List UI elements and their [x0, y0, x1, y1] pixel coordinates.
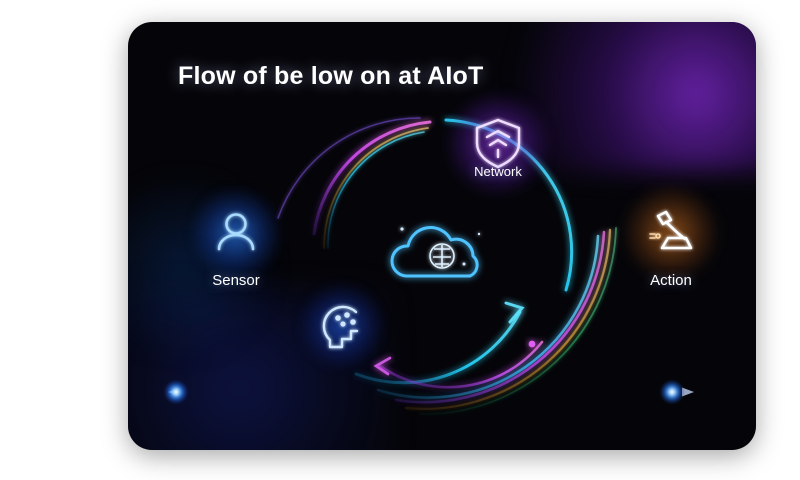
- timeline-end-dot: [659, 379, 685, 405]
- node-sensor[interactable]: Sensor: [176, 200, 296, 289]
- node-action[interactable]: Action: [611, 200, 731, 289]
- progress-timeline[interactable]: [128, 360, 756, 450]
- person-icon: [203, 200, 269, 266]
- diagram-card: Flow of be low on at AIoT: [128, 22, 756, 450]
- action-label: Action: [611, 272, 731, 289]
- node-edge-device[interactable]: [292, 294, 392, 366]
- screenshot-root: Flow of be low on at AIoT: [0, 0, 800, 480]
- node-cloud-ai[interactable]: [360, 212, 524, 300]
- timeline-start-dot: [163, 379, 189, 405]
- cloud-ai-icon: [376, 212, 508, 294]
- robot-arm-icon: [638, 200, 704, 266]
- network-label: Network: [438, 164, 558, 179]
- node-network[interactable]: Network: [438, 110, 558, 179]
- sensor-label: Sensor: [176, 272, 296, 289]
- ai-head-icon: [309, 294, 375, 360]
